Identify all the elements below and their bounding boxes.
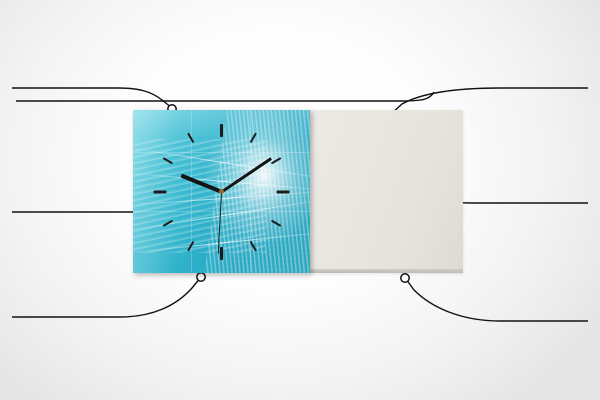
clock-tick — [154, 190, 167, 193]
leader-node — [197, 273, 205, 281]
clock-tick — [220, 247, 223, 260]
product-assembly — [133, 110, 463, 273]
glass-clock-face — [133, 110, 310, 273]
clock-hand-cap — [219, 189, 224, 194]
leader-node — [401, 274, 409, 282]
clock-tick — [277, 190, 290, 193]
metal-hanger-plate — [361, 124, 407, 172]
clock-tick — [220, 124, 223, 137]
infographic-canvas: STICLĂTEMPERATĂ Rezistentă la spargereși… — [0, 0, 600, 400]
